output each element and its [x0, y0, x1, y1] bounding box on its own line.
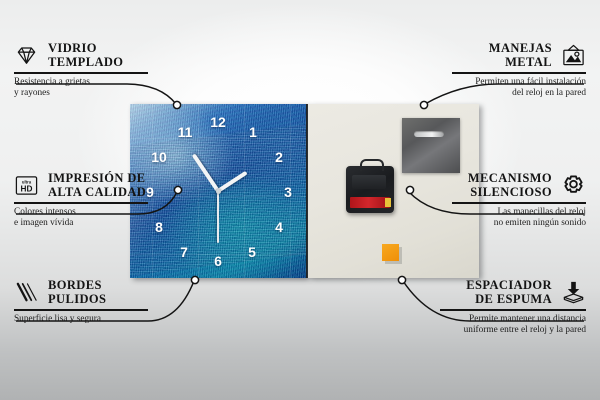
callout-vidrio-templado[interactable]: VIDRIO TEMPLADO Resistencia a grietas y …	[14, 42, 148, 100]
callout-rule	[452, 202, 586, 204]
callout-description: Permiten una fácil instalación del reloj…	[452, 77, 586, 100]
callout-description: Las manecillas del reloj no emiten ningú…	[452, 207, 586, 230]
clock-numeral-4: 4	[275, 220, 283, 234]
clock-numeral-11: 11	[178, 125, 193, 139]
clock-numeral-6: 6	[214, 254, 222, 268]
picture-frame-icon	[561, 43, 586, 68]
clock-numeral-7: 7	[180, 245, 188, 259]
foam-spacer	[382, 244, 399, 261]
polished-edges-icon	[14, 280, 39, 305]
callout-title: MANEJAS METAL	[489, 42, 552, 69]
mechanism-hang-loop	[360, 159, 384, 171]
callout-manejas-metal[interactable]: MANEJAS METAL Permiten una fácil instala…	[452, 42, 586, 100]
callout-bordes-pulidos[interactable]: BORDES PULIDOS Superficie lisa y segura	[14, 279, 148, 325]
mechanism-battery	[350, 197, 390, 208]
callout-impresion-alta-calidad[interactable]: ultra HD IMPRESIÓN DE ALTA CALIDAD Color…	[14, 172, 148, 230]
callout-rule	[14, 72, 148, 74]
clock-numeral-2: 2	[275, 150, 283, 164]
svg-text:HD: HD	[21, 185, 33, 194]
callout-header: ESPACIADOR DE ESPUMA	[440, 279, 586, 306]
clock-numeral-8: 8	[155, 220, 163, 234]
callout-description: Resistencia a grietas y rayones	[14, 77, 148, 100]
callout-espaciador-de-espuma[interactable]: ESPACIADOR DE ESPUMA Permite mantener un…	[440, 279, 586, 337]
ultra-hd-icon: ultra HD	[14, 173, 39, 198]
hanger-slot	[414, 131, 444, 137]
callout-mecanismo-silencioso[interactable]: MECANISMO SILENCIOSO Las manecillas del …	[452, 172, 586, 230]
callout-header: MANEJAS METAL	[452, 42, 586, 69]
second-hand	[217, 191, 219, 243]
callout-title: ESPACIADOR DE ESPUMA	[466, 279, 552, 306]
callout-header: BORDES PULIDOS	[14, 279, 148, 306]
clock-front-panel: 12 1 2 3 4 5 6 7 8 9 10 11	[130, 104, 306, 278]
callout-title: VIDRIO TEMPLADO	[48, 42, 123, 69]
clock-numeral-1: 1	[249, 125, 257, 139]
callout-title: MECANISMO SILENCIOSO	[468, 172, 552, 199]
foam-spacer-icon	[561, 280, 586, 305]
quartz-mechanism-box	[346, 166, 394, 213]
callout-description: Permite mantener una distancia uniforme …	[440, 314, 586, 337]
product-composite: 12 1 2 3 4 5 6 7 8 9 10 11	[130, 104, 479, 278]
gear-icon	[561, 173, 586, 198]
clock-numeral-5: 5	[248, 245, 256, 259]
clock-numeral-12: 12	[210, 115, 226, 129]
callout-header: MECANISMO SILENCIOSO	[452, 172, 586, 199]
callout-description: Superficie lisa y segura	[14, 314, 148, 325]
callout-rule	[452, 72, 586, 74]
callout-title: BORDES PULIDOS	[48, 279, 106, 306]
callout-rule	[440, 309, 586, 311]
clock-numeral-3: 3	[284, 185, 292, 199]
diamond-icon	[14, 43, 39, 68]
callout-header: VIDRIO TEMPLADO	[14, 42, 148, 69]
callout-rule	[14, 309, 148, 311]
battery-terminal	[385, 198, 391, 207]
callout-rule	[14, 202, 148, 204]
callout-header: ultra HD IMPRESIÓN DE ALTA CALIDAD	[14, 172, 148, 199]
clock-numeral-10: 10	[151, 150, 167, 164]
infographic-canvas: 12 1 2 3 4 5 6 7 8 9 10 11	[0, 0, 600, 400]
metal-hanger-plate	[402, 118, 460, 173]
callout-description: Colores intensos e imagen vívida	[14, 207, 148, 230]
hand-center-cap	[216, 189, 221, 194]
callout-title: IMPRESIÓN DE ALTA CALIDAD	[48, 172, 146, 199]
mechanism-top-detail	[352, 175, 386, 189]
